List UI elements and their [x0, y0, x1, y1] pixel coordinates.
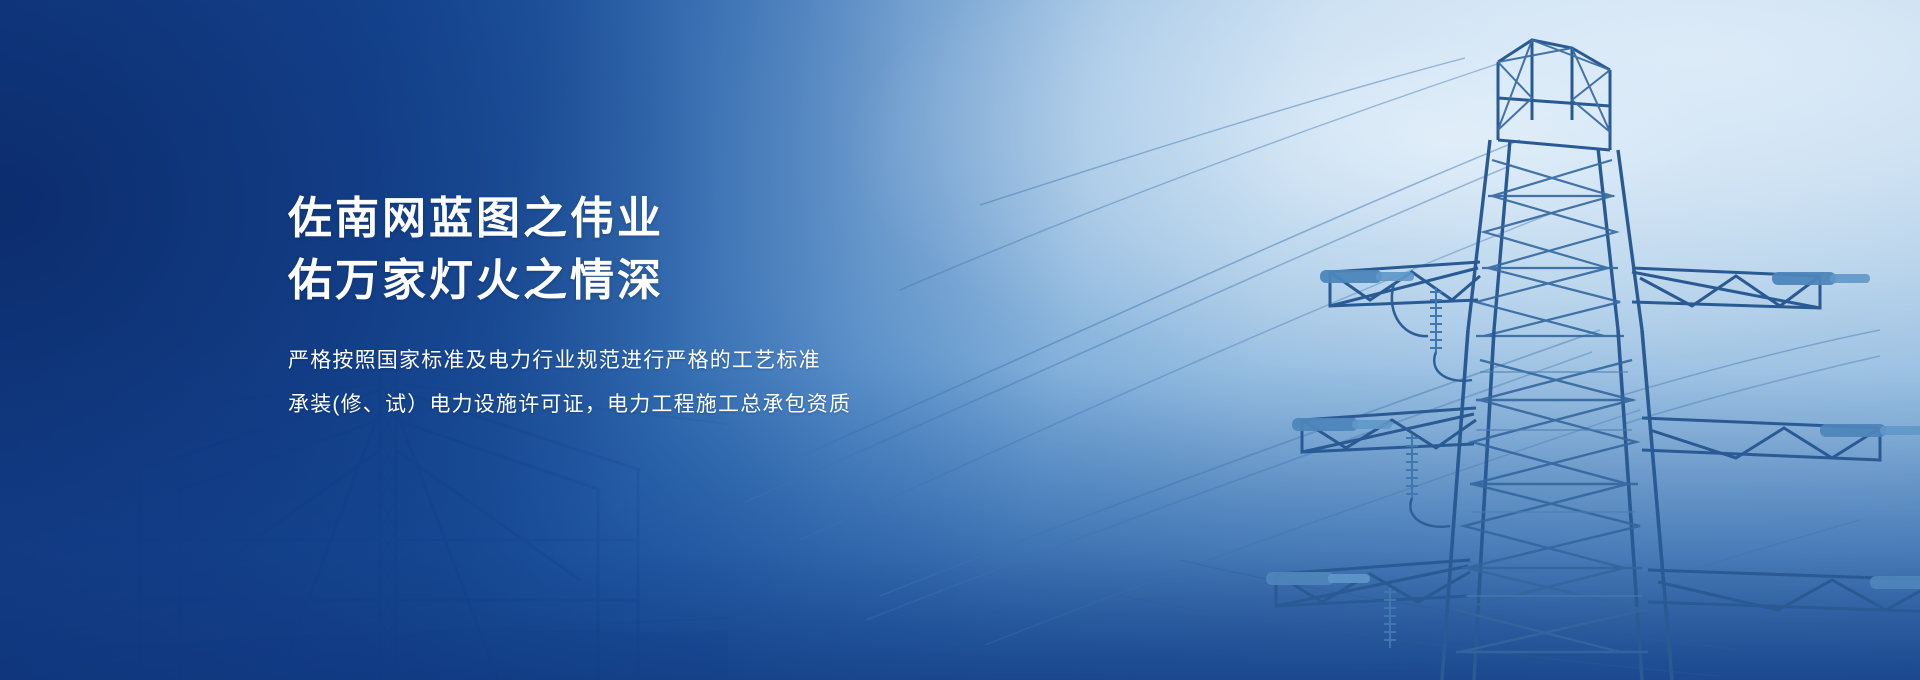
headline-line-1: 佐南网蓝图之伟业 — [288, 188, 1048, 250]
insulator-lower-left — [1266, 572, 1396, 648]
headline-line-2: 佑万家灯火之情深 — [288, 250, 1048, 312]
subtitle-line-2: 承装(修、试）电力设施许可证，电力工程施工总承包资质 — [288, 383, 1048, 427]
banner-copy: 佐南网蓝图之伟业 佑万家灯火之情深 严格按照国家标准及电力行业规范进行严格的工艺… — [288, 188, 1048, 427]
insulator-middle-right — [1820, 424, 1920, 437]
subtitle-block: 严格按照国家标准及电力行业规范进行严格的工艺标准 承装(修、试）电力设施许可证，… — [288, 339, 1048, 427]
insulator-lower-right — [1870, 576, 1920, 589]
insulator-upper-left — [1320, 270, 1472, 381]
hero-banner: 佐南网蓝图之伟业 佑万家灯火之情深 严格按照国家标准及电力行业规范进行严格的工艺… — [0, 0, 1920, 680]
transmission-tower-icon — [1180, 0, 1920, 680]
insulator-upper-right — [1772, 272, 1870, 285]
subtitle-line-1: 严格按照国家标准及电力行业规范进行严格的工艺标准 — [288, 339, 1048, 383]
